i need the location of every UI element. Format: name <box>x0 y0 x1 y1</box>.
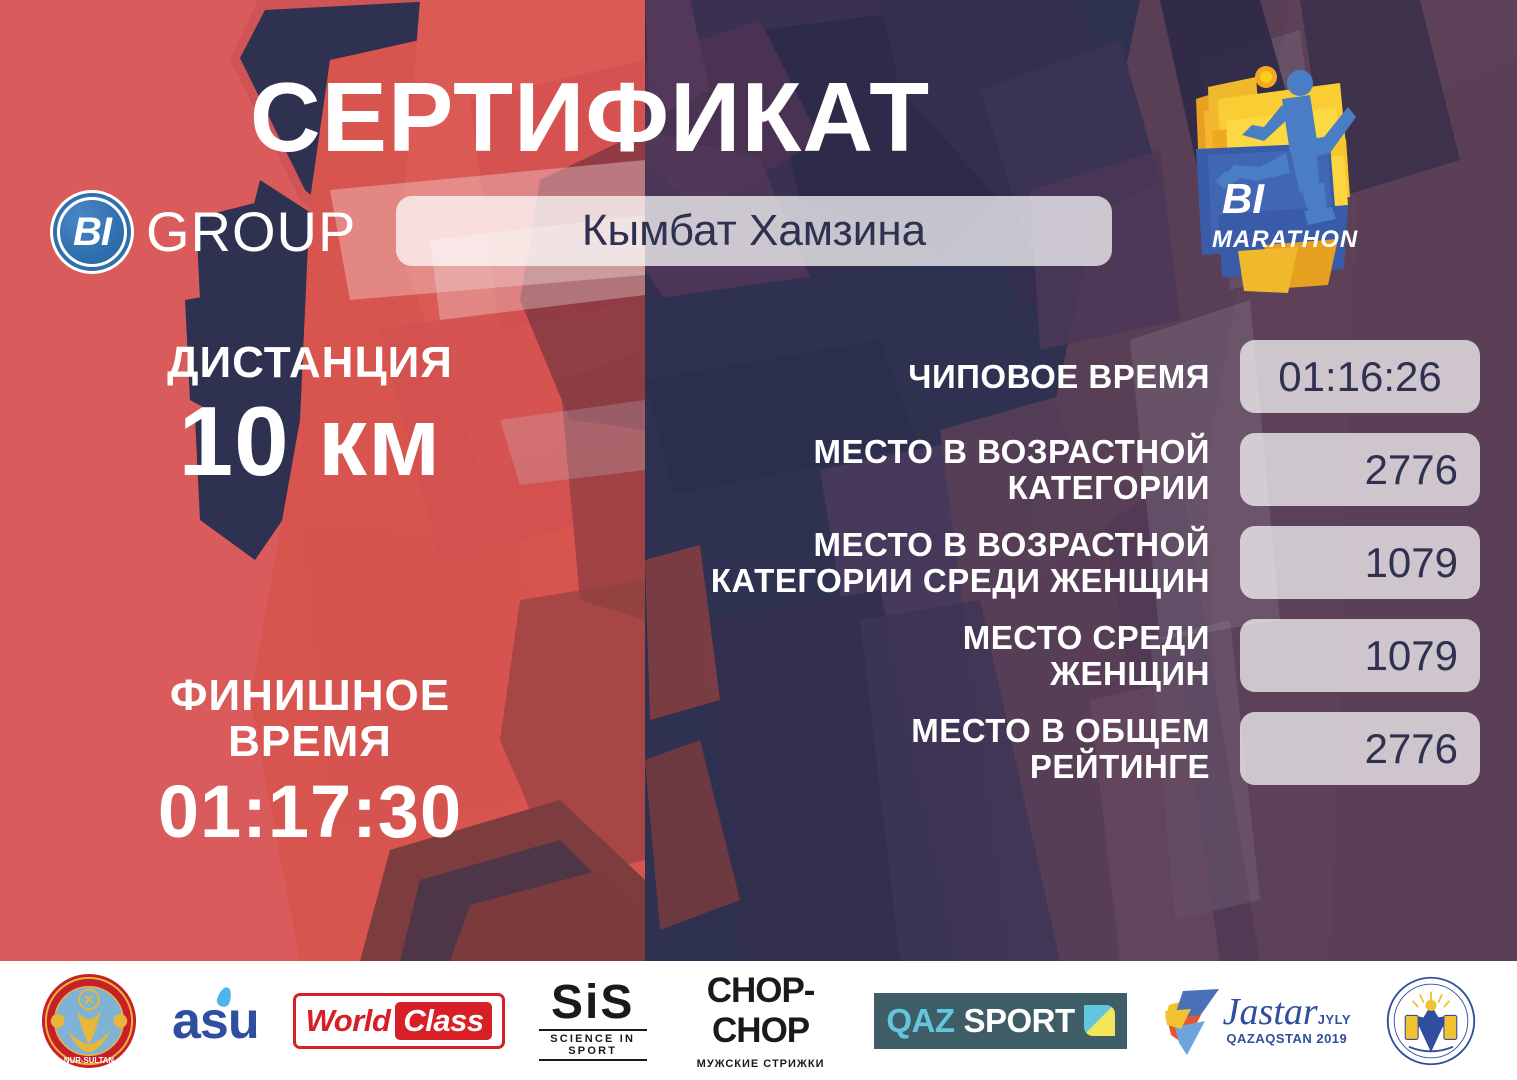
finish-time-block: ФИНИШНОЕ ВРЕМЯ 01:17:30 <box>55 673 565 853</box>
distance-value: 10 км <box>55 390 565 493</box>
stat-label: МЕСТО СРЕДИ ЖЕНЩИН <box>520 620 1240 691</box>
participant-name-plate: Кымбат Хамзина <box>396 196 1112 266</box>
jastar-jyly-logo: JastarJYLY QAZAQSTAN 2019 <box>1161 973 1351 1069</box>
left-stats-column: ДИСТАНЦИЯ 10 км ФИНИШНОЕ ВРЕМЯ 01:17:30 <box>55 340 565 853</box>
world-class-logo: World Class <box>293 973 505 1069</box>
page-title: СЕРТИФИКАТ <box>0 68 1180 166</box>
chop-chop-wordmark: CHOP-CHOP <box>681 971 840 1051</box>
stat-label: МЕСТО В ВОЗРАСТНОЙ КАТЕГОРИИ СРЕДИ ЖЕНЩИ… <box>520 527 1240 598</box>
qazsport-word1: QAZ <box>886 1002 954 1040</box>
asu-label: asu <box>172 992 259 1050</box>
stat-value: 1079 <box>1240 526 1480 599</box>
bi-marathon-line2: MARATHON <box>1212 226 1358 253</box>
certificate-content: СЕРТИФИКАТ BI GROUP Кымбат Хамзина <box>0 0 1517 961</box>
sis-wordmark: SiS <box>539 980 647 1026</box>
participant-name: Кымбат Хамзина <box>582 206 926 256</box>
sis-logo: SiS SCIENCE IN SPORT <box>539 973 647 1069</box>
finish-time-label: ФИНИШНОЕ ВРЕМЯ <box>55 673 565 765</box>
jastar-mark-icon <box>1161 985 1223 1057</box>
stat-row: МЕСТО В ОБЩЕМ РЕЙТИНГЕ 2776 <box>520 712 1480 785</box>
bi-group-logo: BI GROUP <box>50 190 356 274</box>
finish-time-value: 01:17:30 <box>55 771 565 852</box>
nur-sultan-emblem-logo: NUR-SULTAN <box>40 973 138 1069</box>
bi-group-word: GROUP <box>146 204 356 260</box>
asu-wordmark: asu <box>172 991 259 1051</box>
stat-value: 1079 <box>1240 619 1480 692</box>
ministry-of-culture-and-sport-logo <box>1385 973 1477 1069</box>
nur-sultan-label: NUR-SULTAN <box>64 1056 114 1065</box>
stat-label: ЧИПОВОЕ ВРЕМЯ <box>520 359 1240 395</box>
bi-badge-label: BI <box>73 212 111 252</box>
qazsport-word2: SPORT <box>963 1002 1074 1040</box>
stat-row: МЕСТО В ВОЗРАСТНОЙ КАТЕГОРИИ 2776 <box>520 433 1480 506</box>
sis-tagline: SCIENCE IN SPORT <box>539 1029 647 1061</box>
stat-label: МЕСТО В ВОЗРАСТНОЙ КАТЕГОРИИ <box>520 434 1240 505</box>
stat-value: 2776 <box>1240 433 1480 506</box>
chop-chop-tagline: МУЖСКИЕ СТРИЖКИ <box>681 1058 840 1070</box>
certificate-page: СЕРТИФИКАТ BI GROUP Кымбат Хамзина <box>0 0 1517 1080</box>
stat-row: ЧИПОВОЕ ВРЕМЯ 01:16:26 <box>520 340 1480 413</box>
stat-label: МЕСТО В ОБЩЕМ РЕЙТИНГЕ <box>520 713 1240 784</box>
sponsor-bar: NUR-SULTAN asu World Class SiS SCIENCE I… <box>0 961 1517 1080</box>
jastar-subtitle: QAZAQSTAN 2019 <box>1223 1031 1351 1046</box>
stat-value: 01:16:26 <box>1240 340 1480 413</box>
jastar-jyly-word: JYLY <box>1318 1012 1351 1027</box>
asu-logo: asu <box>172 973 259 1069</box>
bi-marathon-logo: BI MARATHON <box>1178 55 1378 305</box>
distance-label: ДИСТАНЦИЯ <box>55 340 565 386</box>
stat-value: 2776 <box>1240 712 1480 785</box>
right-stats-column: ЧИПОВОЕ ВРЕМЯ 01:16:26 МЕСТО В ВОЗРАСТНО… <box>520 340 1480 805</box>
world-class-word1: World <box>306 1003 391 1039</box>
qazsport-square-icon <box>1084 1005 1115 1036</box>
bi-marathon-line1: BI <box>1222 175 1265 222</box>
jastar-wordmark: Jastar <box>1223 991 1318 1033</box>
bi-badge-icon: BI <box>50 190 134 274</box>
stat-row: МЕСТО В ВОЗРАСТНОЙ КАТЕГОРИИ СРЕДИ ЖЕНЩИ… <box>520 526 1480 599</box>
world-class-word2: Class <box>395 1002 491 1040</box>
chop-chop-logo: CHOP-CHOP МУЖСКИЕ СТРИЖКИ <box>681 973 840 1069</box>
qazsport-logo: QAZ SPORT <box>874 973 1126 1069</box>
stat-row: МЕСТО СРЕДИ ЖЕНЩИН 1079 <box>520 619 1480 692</box>
